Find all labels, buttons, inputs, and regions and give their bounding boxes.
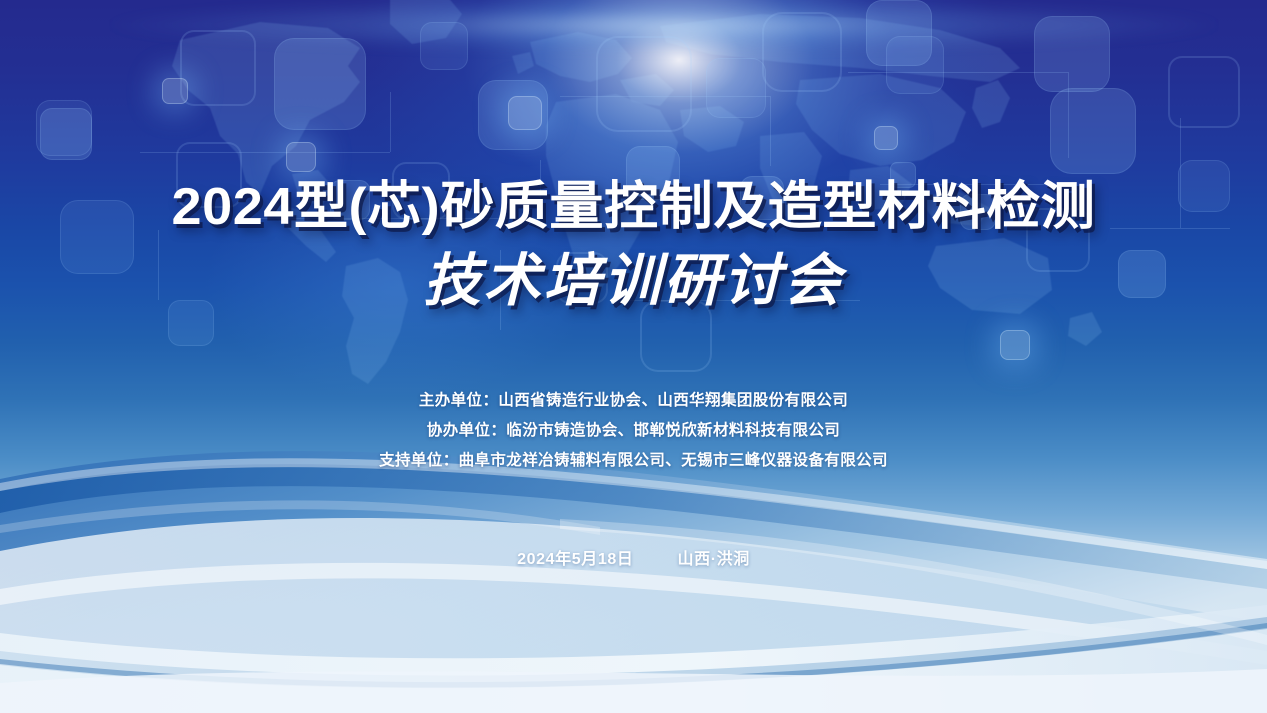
organizer-coorganizer: 协办单位：临汾市铸造协会、邯郸悦欣新材料科技有限公司	[0, 416, 1267, 446]
organizer-block: 主办单位：山西省铸造行业协会、山西华翔集团股份有限公司 协办单位：临汾市铸造协会…	[0, 386, 1267, 476]
event-meta: 2024年5月18日 山西·洪洞	[0, 545, 1267, 569]
title-block: 2024型(芯)砂质量控制及造型材料检测 技术培训研讨会	[0, 176, 1267, 316]
organizer-supporter: 支持单位：曲阜市龙祥冶铸辅料有限公司、无锡市三峰仪器设备有限公司	[0, 446, 1267, 476]
poster-title-line-1: 2024型(芯)砂质量控制及造型材料检测	[0, 176, 1267, 238]
poster-title-line-2: 技术培训研讨会	[0, 246, 1267, 316]
poster-content: 2024型(芯)砂质量控制及造型材料检测 技术培训研讨会 主办单位：山西省铸造行…	[0, 0, 1267, 713]
event-date: 2024年5月18日	[517, 551, 633, 568]
event-location: 山西·洪洞	[678, 551, 750, 568]
conference-poster: 2024型(芯)砂质量控制及造型材料检测 技术培训研讨会 主办单位：山西省铸造行…	[0, 0, 1267, 713]
organizer-host: 主办单位：山西省铸造行业协会、山西华翔集团股份有限公司	[0, 386, 1267, 416]
